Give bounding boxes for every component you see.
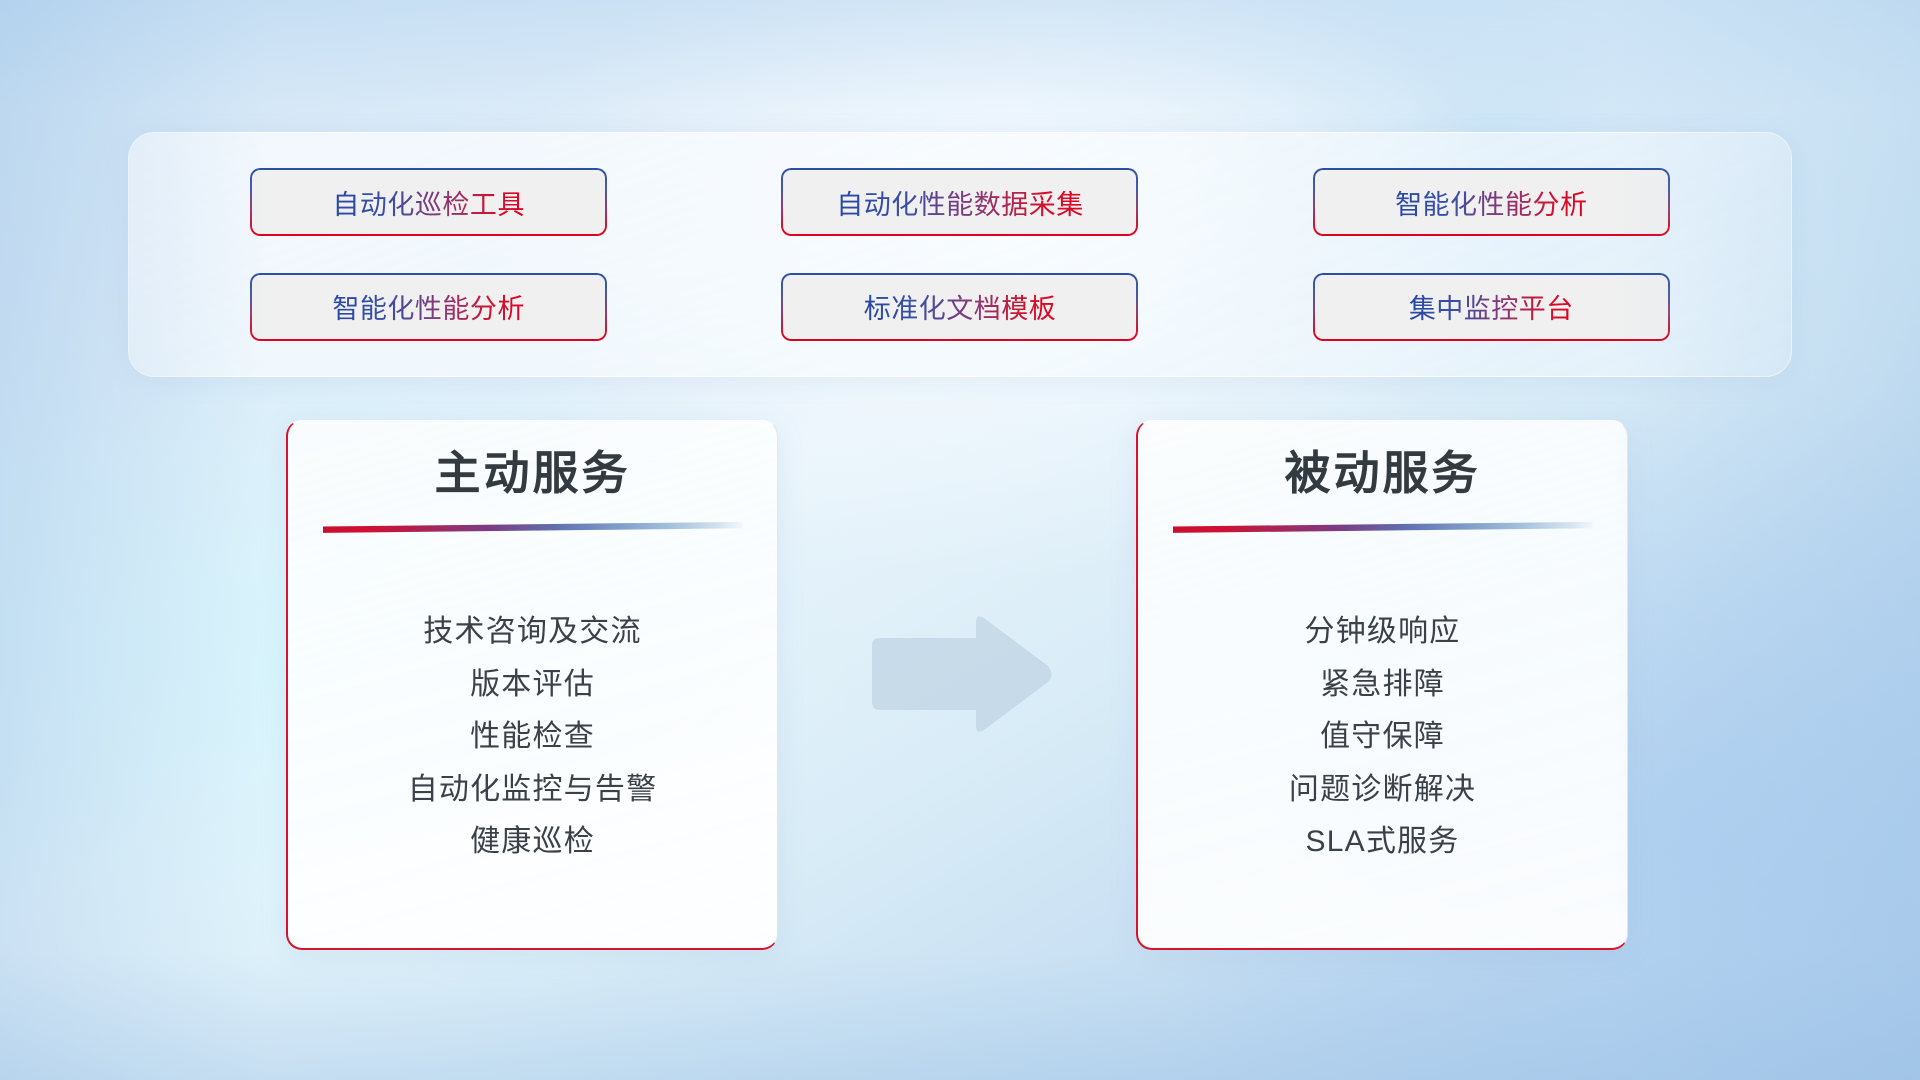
capability-chip-label: 自动化巡检工具	[332, 183, 525, 222]
arrow-right-icon	[868, 612, 1054, 736]
service-list-item: 紧急排障	[1320, 665, 1445, 706]
capability-chip[interactable]: 智能化性能分析	[250, 273, 607, 341]
service-list-item: 分钟级响应	[1305, 612, 1461, 653]
capability-chip-label: 集中监控平台	[1409, 287, 1574, 326]
capability-chip[interactable]: 集中监控平台	[1313, 273, 1670, 341]
title-divider	[323, 522, 743, 533]
card-title: 被动服务	[1285, 447, 1481, 500]
service-list-item: SLA式服务	[1306, 822, 1460, 863]
service-list-item: 问题诊断解决	[1289, 770, 1476, 811]
capability-chip-label: 自动化性能数据采集	[836, 183, 1084, 222]
capability-chip[interactable]: 自动化巡检工具	[250, 168, 607, 236]
capability-panel: 自动化巡检工具 自动化性能数据采集 智能化性能分析 智能化性能分析 标准化文档模…	[128, 132, 1792, 377]
capability-chip[interactable]: 标准化文档模板	[781, 273, 1138, 341]
service-list-item: 自动化监控与告警	[408, 770, 658, 811]
service-list-item: 技术咨询及交流	[423, 612, 641, 653]
capability-chip-label: 智能化性能分析	[1395, 183, 1588, 222]
capability-chip[interactable]: 自动化性能数据采集	[781, 168, 1138, 236]
service-item-list: 分钟级响应 紧急排障 值守保障 问题诊断解决 SLA式服务	[1138, 543, 1627, 948]
service-list-item: 版本评估	[470, 665, 595, 706]
card-title: 主动服务	[435, 447, 631, 500]
service-item-list: 技术咨询及交流 版本评估 性能检查 自动化监控与告警 健康巡检	[288, 543, 777, 948]
capability-chip-label: 标准化文档模板	[864, 287, 1057, 326]
service-card-passive[interactable]: 被动服务 分钟级响应 紧急排障 值守保障 问题诊断解决 SLA式服务	[1136, 420, 1628, 950]
title-divider	[1173, 522, 1593, 533]
capability-chip-label: 智能化性能分析	[332, 287, 525, 326]
service-list-item: 健康巡检	[470, 822, 595, 863]
capability-chip[interactable]: 智能化性能分析	[1313, 168, 1670, 236]
service-list-item: 性能检查	[470, 717, 595, 758]
diagram-canvas: 自动化巡检工具 自动化性能数据采集 智能化性能分析 智能化性能分析 标准化文档模…	[0, 0, 1920, 1080]
service-list-item: 值守保障	[1320, 717, 1445, 758]
service-card-active[interactable]: 主动服务 技术咨询及交流 版本评估 性能检查 自动化监控与告警 健康巡检	[286, 420, 778, 950]
